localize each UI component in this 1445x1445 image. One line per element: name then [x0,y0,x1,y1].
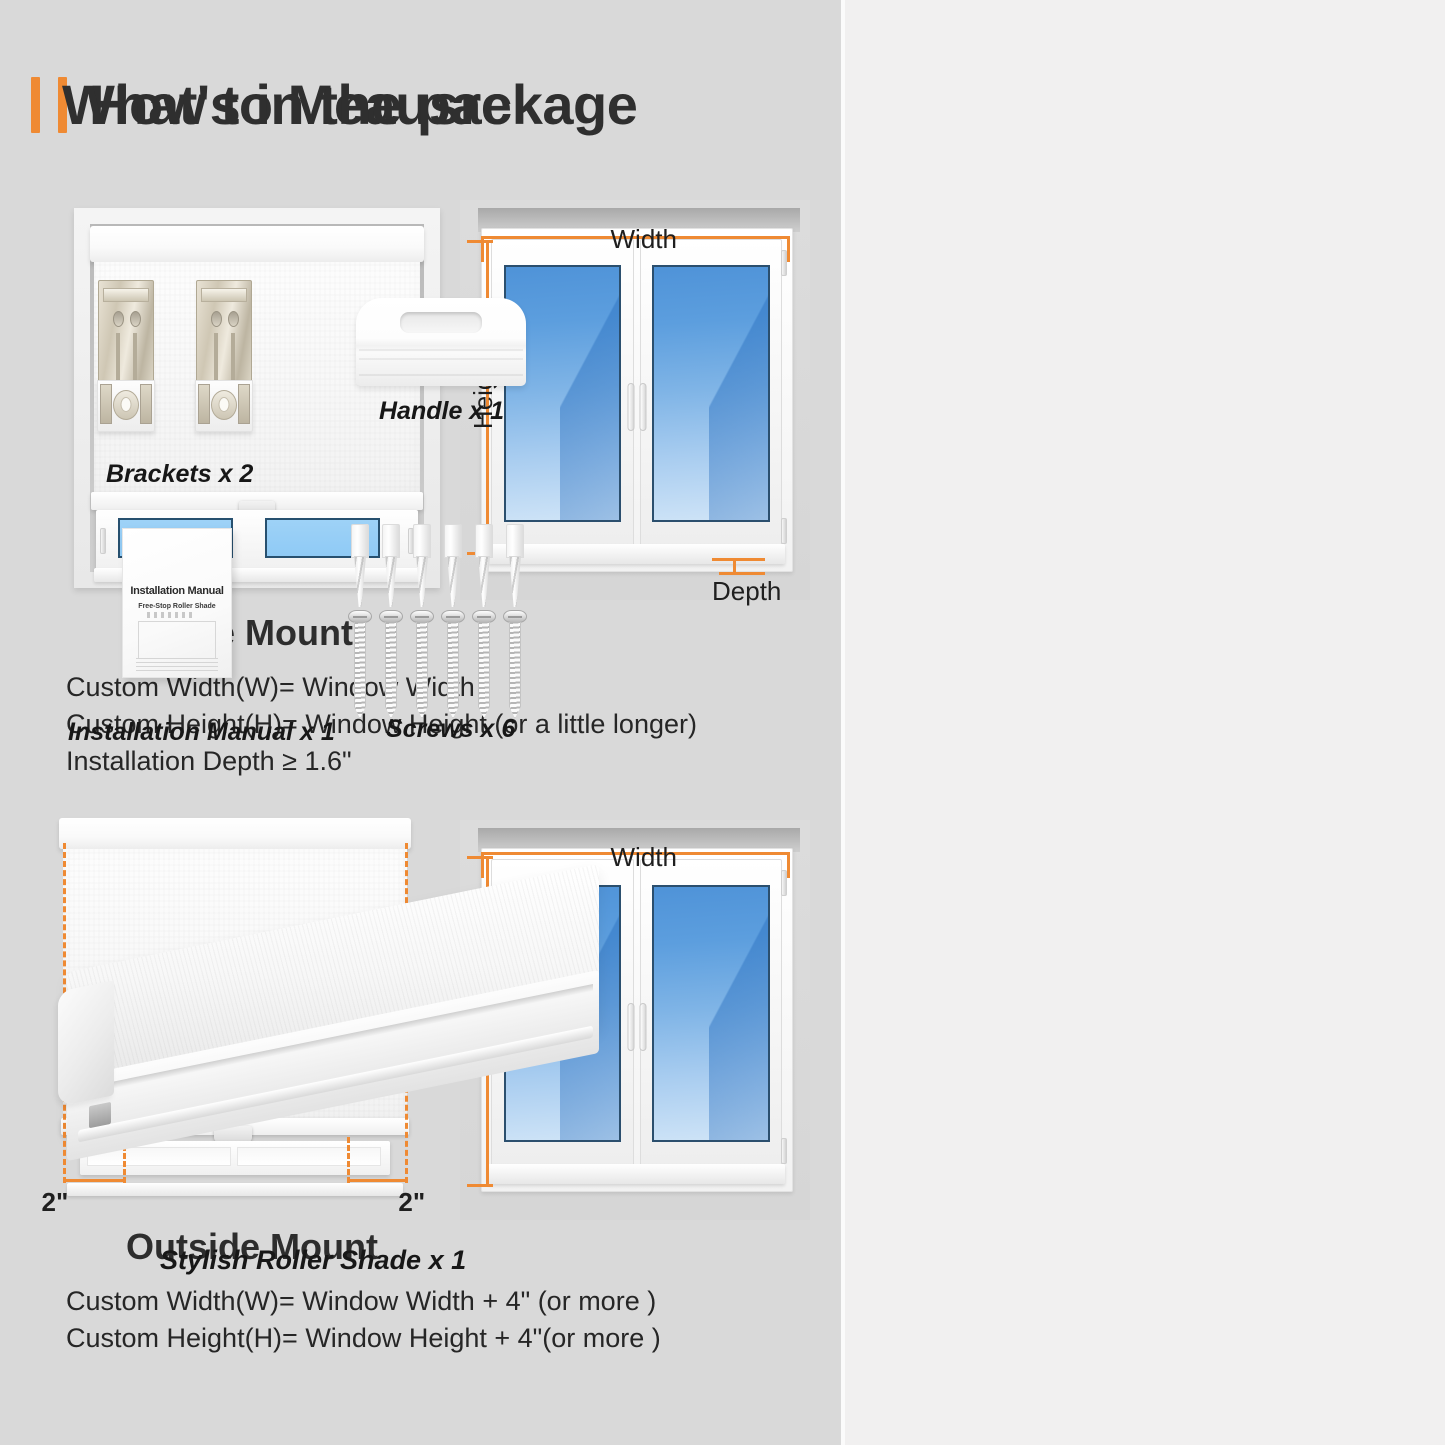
screw-head [441,610,465,623]
wall-anchor [443,524,463,608]
handle-ridge [359,349,522,351]
heading-text: What's in the package [62,72,637,137]
bracket-tab [198,384,210,424]
hinge-left-icon [100,528,106,554]
spec-line: Custom Height(H)= Window Height + 4"(or … [66,1320,661,1356]
anchor-collar [475,524,493,558]
wall-anchor [381,524,401,608]
bracket-tab [100,384,112,424]
screw [351,610,369,718]
screw-head [348,610,372,623]
screw [444,610,462,718]
roller-shade-body [50,880,610,1200]
depth-measure-tick-a [733,558,736,572]
depth-measure-line [712,558,765,561]
screw-thread [354,622,366,718]
roller-shade-label: Stylish Roller Shade x 1 [160,1245,466,1276]
screw [475,610,493,718]
bracket-rib [214,333,218,381]
bracket-2 [196,280,252,432]
bracket-tab [140,384,152,424]
installation-manual-label: Installation Manual x 1 [68,718,335,747]
window-sash-left [491,239,633,547]
shade-headrail [90,226,424,262]
anchor-shaft [509,556,521,608]
anchor-collar [351,524,369,558]
spec-line: Custom Width(W)= Window Width + 4" (or m… [66,1283,661,1319]
hinge-top-right-icon [781,250,787,276]
bracket-tab [238,384,250,424]
screw-head [472,610,496,623]
screws-label: Screws x 6 [386,715,515,744]
bracket-hole [113,311,124,327]
hinge-bottom-right-icon [781,1138,787,1164]
part-handle [356,298,526,388]
screw-head [410,610,434,623]
wall-anchor [474,524,494,608]
handle-body [356,298,526,386]
anchor-collar [444,524,462,558]
bracket-1 [98,280,154,432]
manual-cover-subtitle: Free-Stop Roller Shade [123,603,231,610]
package-contents-panel: What's in the package [845,0,1445,1445]
window-glass-right [652,265,770,522]
bracket-rib [231,333,235,381]
manual-cover-footer-text [136,658,218,671]
bracket-hole [211,311,222,327]
handle-label: Handle x 1 [379,397,504,426]
part-brackets [92,280,292,440]
manual-cover: Installation Manual Free-Stop Roller Sha… [122,528,232,678]
hinge-bottom-right-icon [781,518,787,544]
bracket-metal-body [196,280,252,386]
bracket-rib [133,333,137,381]
screw [506,610,524,718]
screw [382,610,400,718]
handle-grip-slot [400,312,482,333]
bracket-rib [116,333,120,381]
width-measure-tick-right [787,852,790,878]
window-handles-icon [627,1003,646,1051]
wall-anchor [505,524,525,608]
anchor-shaft [385,556,397,608]
depth-measure-base [719,572,765,575]
roller-shade-end-cap [58,980,114,1107]
height-measure-tick-top [467,856,493,859]
window-glass-right [652,885,770,1142]
depth-label: Depth [712,576,781,607]
hinge-top-right-icon [781,870,787,896]
window-sash-right [640,239,782,547]
handle-ridge [359,358,522,360]
anchor-shaft [478,556,490,608]
bracket-screw-hole [113,390,139,420]
handle-ridge [359,374,522,376]
outside-mount-specs: Custom Width(W)= Window Width + 4" (or m… [66,1283,661,1357]
width-label: Width [611,224,677,255]
anchor-shaft [447,556,459,608]
bracket-metal-body [98,280,154,386]
bracket-hole [228,311,239,327]
accent-bar-icon [31,77,40,133]
spec-line: Installation Depth ≥ 1.6" [66,743,697,779]
brackets-label: Brackets x 2 [106,460,253,489]
window-sash-right [640,859,782,1167]
screw-thread [447,622,459,718]
anchor-shaft [416,556,428,608]
width-label: Width [611,842,677,873]
window-frame [481,228,793,572]
shade-headrail [59,818,412,850]
manual-cover-title: Installation Manual [123,585,231,597]
screw-head [503,610,527,623]
anchor-collar [382,524,400,558]
screw-thread [416,622,428,718]
height-measure-tick-top [467,240,493,243]
part-installation-manual: Installation Manual Free-Stop Roller Sha… [122,528,234,680]
width-measure-tick-right [787,236,790,262]
bracket-hole [130,311,141,327]
infographic-canvas: How to Meausre [0,0,1445,1445]
screw-thread [509,622,521,718]
wall-anchor [412,524,432,608]
part-screws [350,524,540,694]
screw-thread [385,622,397,718]
manual-cover-figure [138,621,216,659]
anchor-collar [413,524,431,558]
manual-cover-graphic [147,612,197,618]
part-roller-shade [50,880,610,1200]
window-handles-icon [627,383,646,431]
anchor-shaft [354,556,366,608]
wall-anchor [350,524,370,608]
screw-thread [478,622,490,718]
screw-head [379,610,403,623]
screw [413,610,431,718]
panel-heading-whats-in-package: What's in the package [31,72,637,137]
anchor-collar [506,524,524,558]
bracket-screw-hole [211,390,237,420]
